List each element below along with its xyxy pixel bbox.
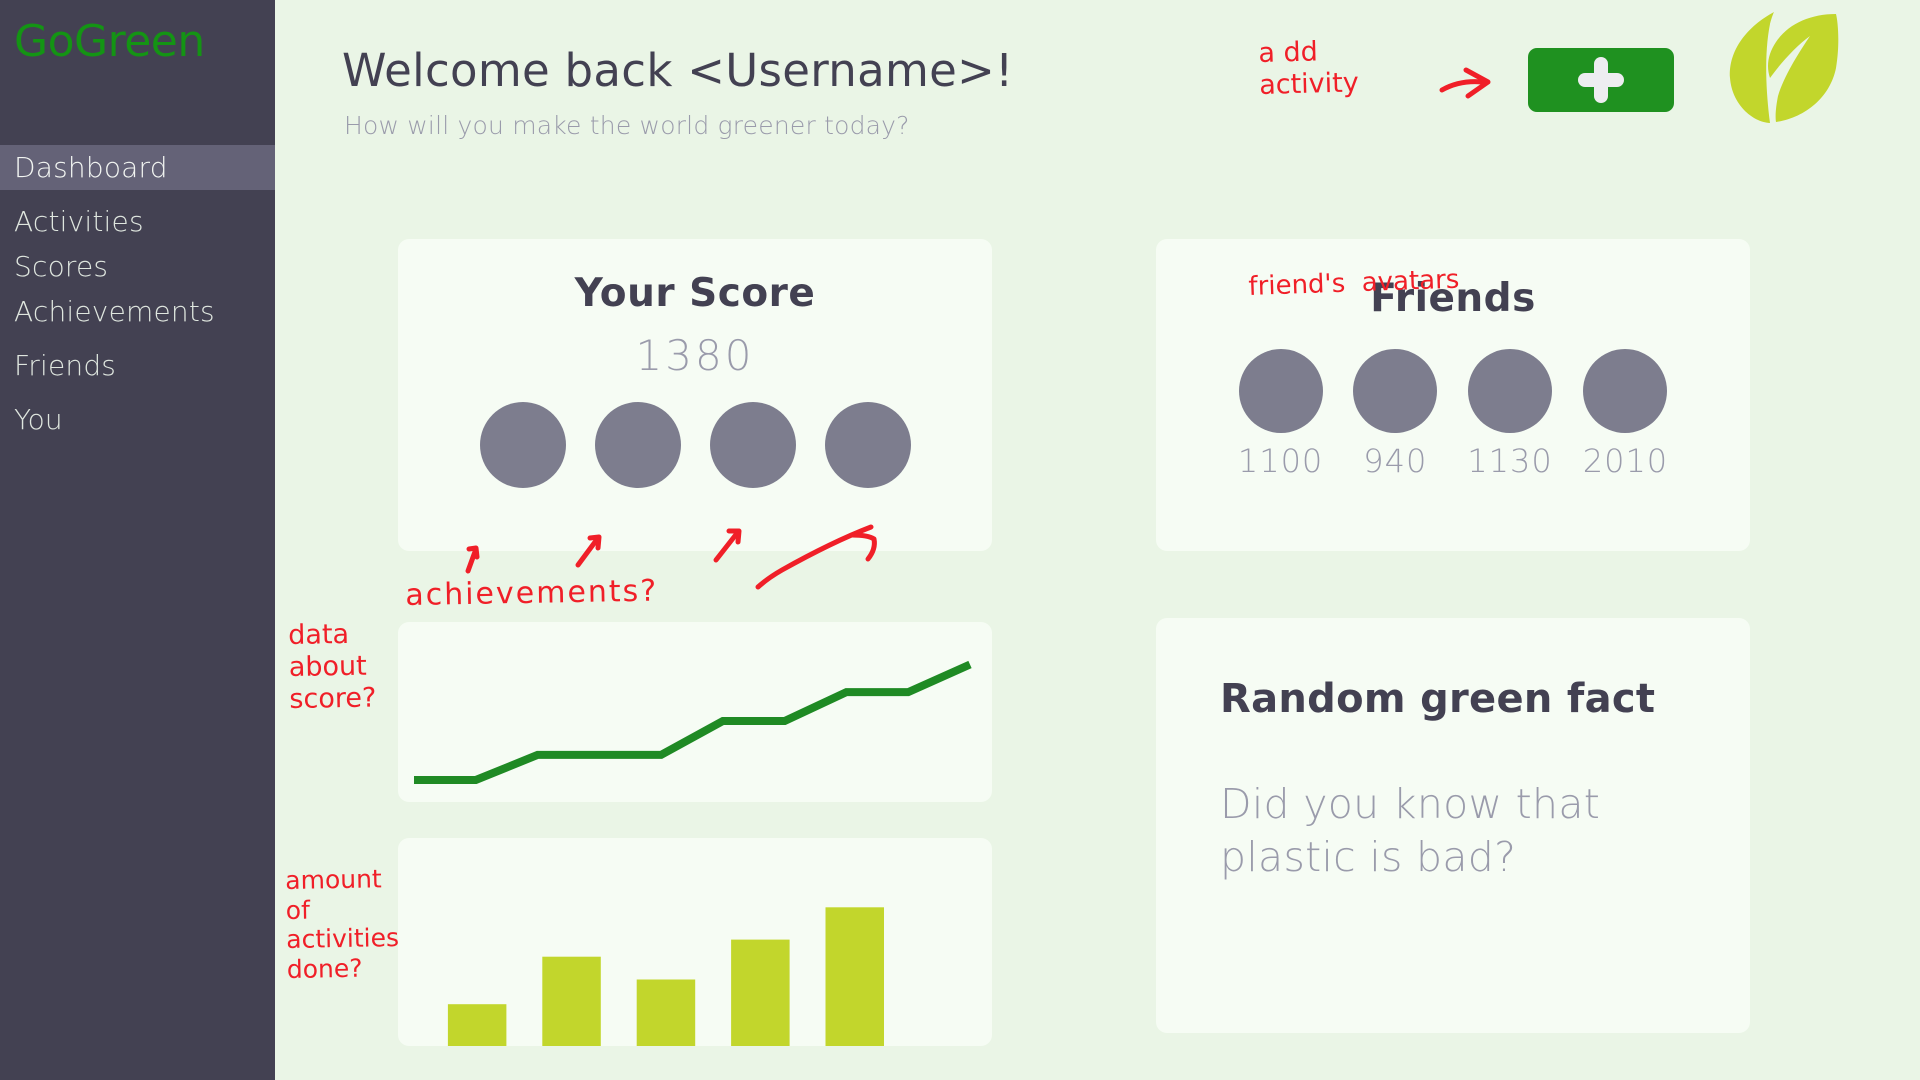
dashboard-page: GoGreen Dashboard Activities Scores Achi… xyxy=(0,0,1920,1080)
bar xyxy=(731,940,790,1046)
bar-chart-svg xyxy=(398,838,992,1046)
bar xyxy=(637,980,696,1047)
line-series xyxy=(414,665,970,781)
friend-score: 1130 xyxy=(1467,442,1552,480)
line-chart-svg xyxy=(398,622,992,802)
brand-logo-text[interactable]: GoGreen xyxy=(14,20,205,64)
friend-score: 940 xyxy=(1363,442,1427,480)
achievement-badge[interactable] xyxy=(825,402,911,488)
bar xyxy=(448,1004,507,1046)
sidebar-item-label: Scores xyxy=(14,250,108,283)
score-value: 1380 xyxy=(398,331,992,380)
annotation-achievements: achievements? xyxy=(405,574,658,614)
friend-item[interactable]: 940 xyxy=(1353,349,1437,480)
page-title: Welcome back <Username>! xyxy=(342,48,1013,93)
arrow-head xyxy=(1466,70,1488,96)
friend-avatars: 1100 940 1130 2010 xyxy=(1156,349,1750,480)
sidebar-item-label: Friends xyxy=(14,349,116,382)
avatar[interactable] xyxy=(1353,349,1437,433)
score-card: Your Score 1380 xyxy=(398,239,992,551)
sidebar-item-label: You xyxy=(14,403,63,436)
sidebar-item-scores[interactable]: Scores xyxy=(0,244,275,289)
page-subtitle: How will you make the world greener toda… xyxy=(344,113,910,138)
achievement-badge[interactable] xyxy=(710,402,796,488)
arrow-to-badge-1 xyxy=(468,549,476,571)
friend-item[interactable]: 1100 xyxy=(1238,349,1323,480)
friend-score: 2010 xyxy=(1583,442,1668,480)
friend-item[interactable]: 1130 xyxy=(1467,349,1552,480)
sidebar: GoGreen Dashboard Activities Scores Achi… xyxy=(0,0,275,1080)
fact-card-body: Did you know that plastic is bad? xyxy=(1220,778,1690,885)
achievement-badge[interactable] xyxy=(595,402,681,488)
fact-card-title: Random green fact xyxy=(1220,676,1750,722)
sidebar-item-dashboard[interactable]: Dashboard xyxy=(0,145,275,190)
friend-score: 1100 xyxy=(1238,442,1323,480)
sidebar-item-achievements[interactable]: Achievements xyxy=(0,289,275,334)
annotation-add-activity: a dd activity xyxy=(1258,35,1359,101)
sidebar-item-label: Activities xyxy=(14,205,144,238)
leaf-logo-icon xyxy=(1718,6,1842,124)
sidebar-item-label: Achievements xyxy=(14,295,215,328)
activities-bar-chart[interactable] xyxy=(398,838,992,1046)
score-achievement-circles xyxy=(398,402,992,488)
avatar[interactable] xyxy=(1583,349,1667,433)
sidebar-item-friends[interactable]: Friends xyxy=(0,343,275,388)
avatar[interactable] xyxy=(1239,349,1323,433)
add-activity-button[interactable] xyxy=(1528,48,1674,112)
sidebar-item-label: Dashboard xyxy=(14,151,168,184)
random-fact-card: Random green fact Did you know that plas… xyxy=(1156,618,1750,1033)
achievement-badge[interactable] xyxy=(480,402,566,488)
sidebar-item-activities[interactable]: Activities xyxy=(0,199,275,244)
sidebar-nav: Dashboard Activities Scores Achievements… xyxy=(0,145,275,442)
bar xyxy=(542,957,601,1046)
annotation-score-data: data about score? xyxy=(288,618,377,715)
sidebar-item-you[interactable]: You xyxy=(0,397,275,442)
arrow-to-add-button xyxy=(1442,82,1482,90)
avatar[interactable] xyxy=(1468,349,1552,433)
plus-icon xyxy=(1578,57,1624,103)
bar xyxy=(826,907,885,1046)
annotation-activities-amount: amount of activities done? xyxy=(285,864,400,984)
score-card-title: Your Score xyxy=(398,271,992,316)
friend-item[interactable]: 2010 xyxy=(1583,349,1668,480)
score-line-chart[interactable] xyxy=(398,622,992,802)
